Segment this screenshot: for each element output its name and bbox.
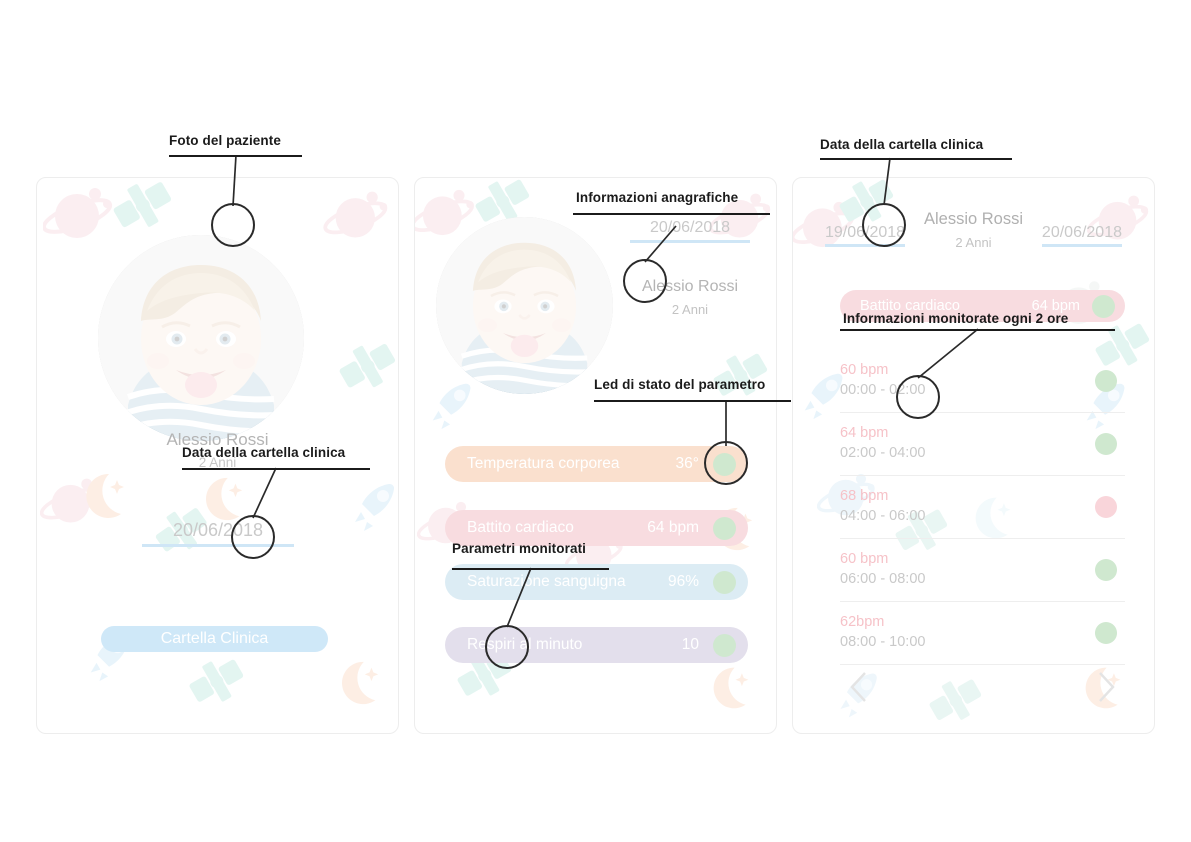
reading-time: 06:00 - 08:00 — [840, 570, 1095, 590]
annotation-rule — [573, 213, 770, 215]
param-label: Battito cardiaco — [467, 519, 647, 537]
param-value: 10 — [682, 636, 699, 654]
status-led — [713, 634, 736, 657]
annotation-data-cartella-2: Data della cartella clinica — [820, 137, 983, 152]
annotation-data-cartella-1: Data della cartella clinica — [182, 445, 345, 460]
status-led — [1095, 559, 1117, 581]
annotation-rule — [182, 468, 370, 470]
satellite-decoration — [337, 338, 397, 396]
param-value: 36° — [676, 455, 699, 473]
reading-bpm: 68 bpm — [840, 487, 1095, 507]
cartella-clinica-button[interactable]: Cartella Clinica — [101, 626, 328, 652]
avatar — [98, 235, 304, 441]
reading-bpm: 60 bpm — [840, 550, 1095, 570]
record-date-field[interactable]: 20/06/2018 — [630, 219, 750, 243]
rocket-decoration — [425, 378, 481, 434]
param-value: 96% — [668, 573, 699, 591]
annotation-rule — [452, 568, 609, 570]
status-led — [713, 517, 736, 540]
table-row[interactable]: 60 bpm 00:00 - 02:00 — [840, 350, 1125, 413]
history-header: 19/06/2018 Alessio Rossi 2 Anni 20/06/20… — [793, 210, 1154, 266]
annotation-info-ogni-2-ore: Informazioni monitorate ogni 2 ore — [843, 311, 1068, 326]
param-label: Saturazione sanguigna — [467, 573, 668, 591]
reading-bpm: 62bpm — [840, 613, 1095, 633]
moon-decoration — [77, 470, 129, 522]
moon-decoration — [333, 658, 383, 708]
annotation-led-stato: Led di stato del parametro — [594, 377, 765, 392]
annotation-marker — [623, 259, 667, 303]
table-row[interactable]: 62bpm 08:00 - 10:00 — [840, 602, 1125, 665]
param-label: Temperatura corporea — [467, 455, 676, 473]
page-root: Alessio Rossi 2 Anni 20/06/2018 Cartella… — [0, 0, 1191, 842]
satellite-decoration — [111, 177, 173, 236]
annotation-foto-paziente: Foto del paziente — [169, 133, 281, 148]
saturn-decoration — [43, 182, 121, 244]
table-row[interactable]: 60 bpm 06:00 - 08:00 — [840, 539, 1125, 602]
annotation-marker — [896, 375, 940, 419]
patient-age: 2 Anni — [620, 302, 760, 317]
reading-bpm: 60 bpm — [840, 361, 1095, 381]
reading-bpm: 64 bpm — [840, 424, 1095, 444]
param-value: 64 bpm — [647, 519, 699, 537]
history-date-right[interactable]: 20/06/2018 — [1042, 224, 1122, 247]
satellite-decoration — [187, 653, 245, 711]
annotation-marker — [211, 203, 255, 247]
annotation-rule — [594, 400, 791, 402]
moon-decoration — [197, 474, 247, 524]
saturn-decoration — [323, 186, 397, 244]
reading-time: 04:00 - 06:00 — [840, 507, 1095, 527]
rocket-decoration — [347, 478, 399, 536]
annotation-marker — [231, 515, 275, 559]
chevron-left-icon[interactable] — [844, 667, 874, 707]
table-row[interactable]: 68 bpm 04:00 - 06:00 — [840, 476, 1125, 539]
history-pagination — [840, 667, 1125, 711]
annotation-marker — [485, 625, 529, 669]
annotation-rule — [169, 155, 302, 157]
reading-time: 02:00 - 04:00 — [840, 444, 1095, 464]
status-led — [1095, 370, 1117, 392]
reading-time: 00:00 - 02:00 — [840, 381, 1095, 401]
moon-decoration — [705, 664, 753, 712]
status-led — [713, 571, 736, 594]
annotation-rule — [840, 329, 1115, 331]
status-led — [1095, 496, 1117, 518]
annotation-marker — [862, 203, 906, 247]
chevron-right-icon[interactable] — [1091, 667, 1121, 707]
status-led — [1092, 295, 1115, 318]
reading-time: 08:00 - 10:00 — [840, 633, 1095, 653]
table-row[interactable]: 64 bpm 02:00 - 04:00 — [840, 413, 1125, 476]
status-led — [1095, 622, 1117, 644]
avatar — [436, 217, 613, 394]
history-card: 19/06/2018 Alessio Rossi 2 Anni 20/06/20… — [792, 177, 1155, 734]
annotation-rule — [820, 158, 1012, 160]
annotation-info-anagrafiche: Informazioni anagrafiche — [576, 190, 738, 205]
saturn-decoration — [40, 473, 110, 529]
status-led — [1095, 433, 1117, 455]
param-row-temperatura[interactable]: Temperatura corporea 36° — [445, 446, 748, 482]
history-readings-list: 60 bpm 00:00 - 02:00 64 bpm 02:00 - 04:0… — [840, 350, 1125, 665]
satellite-decoration — [711, 348, 769, 404]
annotation-marker — [704, 441, 748, 485]
annotation-parametri-monitorati: Parametri monitorati — [452, 541, 586, 556]
